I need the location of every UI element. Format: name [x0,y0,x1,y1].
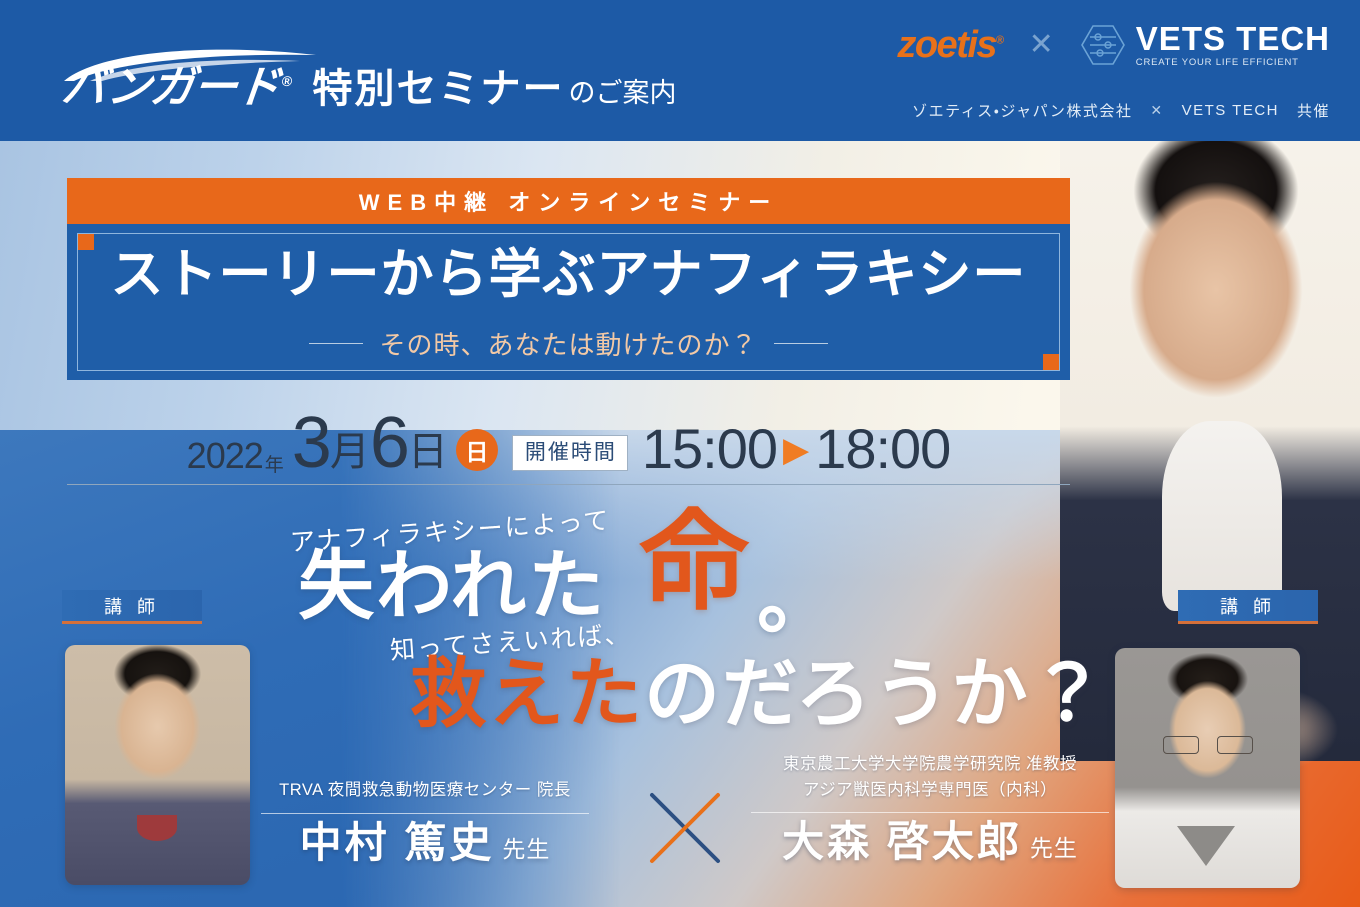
webinar-ribbon-label: WEB中継 オンラインセミナー [359,185,778,217]
catchphrase-line1: 失われた [298,549,606,625]
header-underline [0,133,1360,141]
speakers-cross-icon [640,783,730,873]
sponsor-cross-icon: ✕ [1029,30,1054,60]
vanguard-logo-text: バンガード® [60,66,293,110]
hero-shirt [1162,421,1282,611]
event-month: 3 [292,409,330,477]
zoetis-registered-icon: ® [996,34,1003,46]
date-time-row: 2022 年 3 月 6 日 日 開催時間 15:00 ▶ 18:00 [67,405,1070,477]
cohost-line: ゾエティス・ジャパン株式会社 ✕ VETS TECH 共催 [912,100,1330,121]
speaker-right-rule [751,812,1109,813]
speaker-portrait-right [1115,648,1300,888]
sponsor-logos: zoetis® ✕ VETS TECH CREATE YOUR LIFE EFF… [897,22,1330,68]
speaker-badge-right: 講 師 [1178,590,1318,624]
registered-mark-icon: ® [281,74,292,88]
vets-tech-hexagon-icon [1080,23,1126,67]
catchphrase-accent-inochi: 命 [640,508,748,616]
event-time-label: 開催時間 [512,435,628,471]
catchphrase-period: 。 [757,560,835,638]
event-month-unit: 月 [330,419,370,477]
catchphrase-line2: 救えたのだろうか？ [410,657,1107,733]
vets-tech-name: VETS TECH [1136,22,1330,55]
event-year-unit: 年 [265,450,284,477]
event-day: 6 [370,409,408,477]
speaker-right-collar [1177,826,1235,866]
time-arrow-icon: ▶ [783,433,809,467]
seminar-poster: バンガード® 特別セミナー のご案内 zoetis® ✕ VETS TECH C… [0,0,1360,907]
event-time-start: 15:00 [642,421,777,477]
speaker-left-collar [137,815,177,841]
seminar-title-label: 特別セミナー [313,56,565,114]
seminar-title-suffix: のご案内 [569,71,677,110]
subtitle-rule-left [309,343,363,344]
catchphrase-line2-white: のだろうか？ [644,652,1107,737]
zoetis-logo: zoetis® [897,26,1002,64]
title-panel: ストーリーから学ぶアナフィラキシー その時、あなたは動けたのか？ [67,224,1070,380]
brand-lockup: バンガード® 特別セミナー のご案内 [62,56,677,114]
page-subtitle: その時、あなたは動けたのか？ [67,325,1070,362]
event-day-unit: 日 [408,419,448,477]
vets-tech-wordmark: VETS TECH CREATE YOUR LIFE EFFICIENT [1136,22,1330,68]
subtitle-rule-right [774,343,828,344]
glasses-icon [1163,736,1253,752]
speaker-portrait-left [65,645,250,885]
speaker-left-affiliation: TRVA 夜間救急動物医療センター 院長 [255,778,595,804]
speaker-left-honorific: 先生 [502,836,550,862]
webinar-ribbon: WEB中継 オンラインセミナー [67,178,1070,224]
date-divider-rule [67,484,1070,485]
catchphrase-block: アナフィラキシーによって 失われた 命 。 知ってさえいれば、 救えたのだろうか… [270,505,1060,755]
cohost-company: ゾエティス・ジャパン株式会社 [912,100,1132,121]
speaker-left-rule [261,813,589,814]
speaker-left-name-row: 中村 篤史先生 [255,822,595,864]
speaker-info-right: 東京農工大学大学院農学研究院 准教授 アジア獣医内科学専門医（内科） 大森 啓太… [745,752,1115,863]
vets-tech-tagline: CREATE YOUR LIFE EFFICIENT [1136,58,1330,68]
vets-tech-logo: VETS TECH CREATE YOUR LIFE EFFICIENT [1080,22,1330,68]
event-day-of-week-badge: 日 [456,429,498,471]
catchphrase-line2-accent: 救えた [410,652,644,737]
speaker-badge-left: 講 師 [62,590,202,624]
speaker-right-name-row: 大森 啓太郎先生 [745,821,1115,863]
cohost-suffix: 共催 [1297,100,1330,121]
subtitle-text: その時、あなたは動けたのか？ [379,325,757,362]
speaker-right-honorific: 先生 [1030,835,1078,861]
event-year: 2022 [187,435,263,477]
speaker-right-name: 大森 啓太郎 [782,818,1022,865]
cohost-partner: VETS TECH [1182,102,1279,119]
speaker-right-affiliation-1: 東京農工大学大学院農学研究院 准教授 [745,752,1115,778]
event-time-end: 18:00 [815,421,950,477]
speaker-right-affiliation-2: アジア獣医内科学専門医（内科） [745,778,1115,804]
speaker-left-name: 中村 篤史 [300,819,495,866]
speaker-info-left: TRVA 夜間救急動物医療センター 院長 中村 篤史先生 [255,778,595,864]
page-title: ストーリーから学ぶアナフィラキシー [67,248,1070,301]
cohost-cross-icon: ✕ [1150,102,1163,119]
